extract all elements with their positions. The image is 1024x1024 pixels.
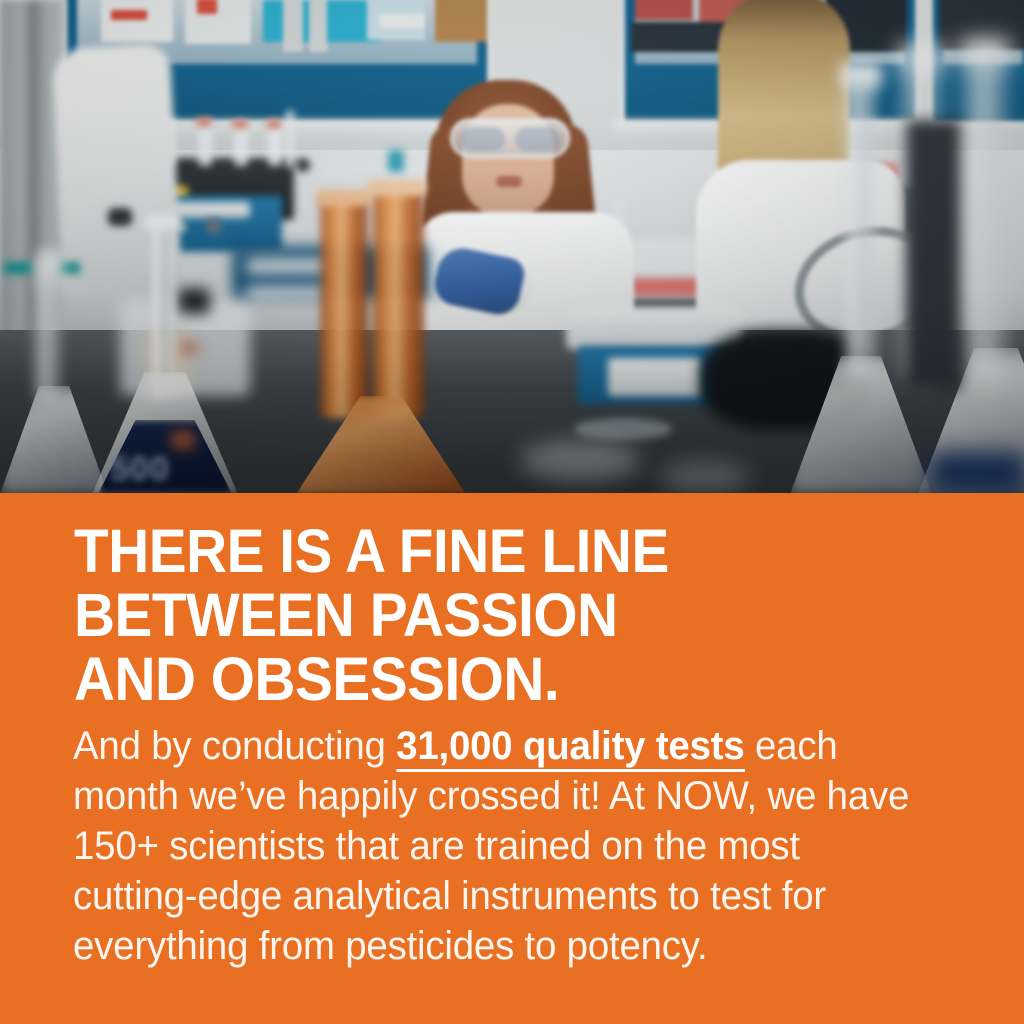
scientist-right: [690, 0, 910, 330]
test-tube: [268, 122, 282, 166]
glass-highlight: [36, 252, 66, 300]
amber-glass-column-a: [320, 198, 368, 418]
test-tube: [198, 120, 212, 166]
flask-stopper: [144, 214, 180, 230]
cabinet-book-red: [635, 0, 693, 20]
glass-dish: [520, 440, 640, 480]
orange-message-panel: THERE IS A FINE LINE BETWEEN PASSION AND…: [0, 493, 1024, 1024]
body-lead: And by conducting: [73, 724, 396, 768]
instrument-dial: [206, 218, 222, 234]
mouth: [496, 176, 522, 187]
navy-liquid: [930, 452, 1024, 493]
goggle-lens-right: [515, 127, 559, 151]
flask-graduation-label: 500: [110, 450, 170, 489]
teal-clamp: [4, 262, 34, 274]
tall-flask-neck-c: [968, 54, 1002, 384]
clamp: [296, 158, 310, 172]
goggle-lens-left: [461, 127, 505, 151]
dark-equipment-column: [906, 120, 960, 390]
cabinet-tube: [283, 0, 303, 52]
bottle-cap-dark: [178, 288, 210, 314]
flask-stopper: [840, 62, 882, 88]
cabinet-box: [101, 0, 173, 42]
amber-column-collar: [368, 180, 426, 196]
safety-goggles: [450, 118, 570, 158]
flask-stopper: [960, 38, 1010, 66]
test-tube: [234, 122, 248, 166]
amber-column-collar: [316, 190, 372, 206]
flask-stopper: [898, 44, 944, 70]
cabinet-tube: [309, 0, 327, 52]
watch-glass: [574, 418, 672, 440]
cabinet-handle: [246, 258, 330, 274]
tube-cap: [196, 118, 212, 126]
support-rod: [286, 110, 294, 168]
page-title: THERE IS A FINE LINE BETWEEN PASSION AND…: [74, 519, 892, 711]
laboratory-photo: 500: [0, 0, 1024, 493]
body-copy: And by conducting 31,000 quality tests e…: [73, 721, 927, 971]
cabinet-carton: [435, 0, 489, 42]
tall-flask-neck-a: [846, 78, 874, 378]
volumetric-flask-neck: [150, 222, 174, 398]
promo-graphic: 500 THERE IS A FINE LINE BETWEEN PASSION…: [0, 0, 1024, 1024]
label-mark: [180, 344, 198, 352]
cabinet-label-red: [111, 10, 147, 20]
tube-cap: [266, 120, 282, 128]
cabinet-box: [185, 0, 251, 44]
tube-cap: [232, 120, 248, 128]
scientist-left-hand-item: [108, 208, 132, 226]
cabinet-handle: [246, 286, 328, 300]
amber-glass-column-b: [372, 188, 424, 418]
glass-dish: [660, 460, 750, 493]
flask-orange-mark: [172, 432, 194, 448]
cabinet-jar-cap: [379, 14, 425, 28]
stat-highlight-quality-tests: 31,000 quality tests: [396, 724, 744, 772]
balance-display: [608, 358, 702, 396]
cabinet-label-red: [197, 0, 217, 14]
